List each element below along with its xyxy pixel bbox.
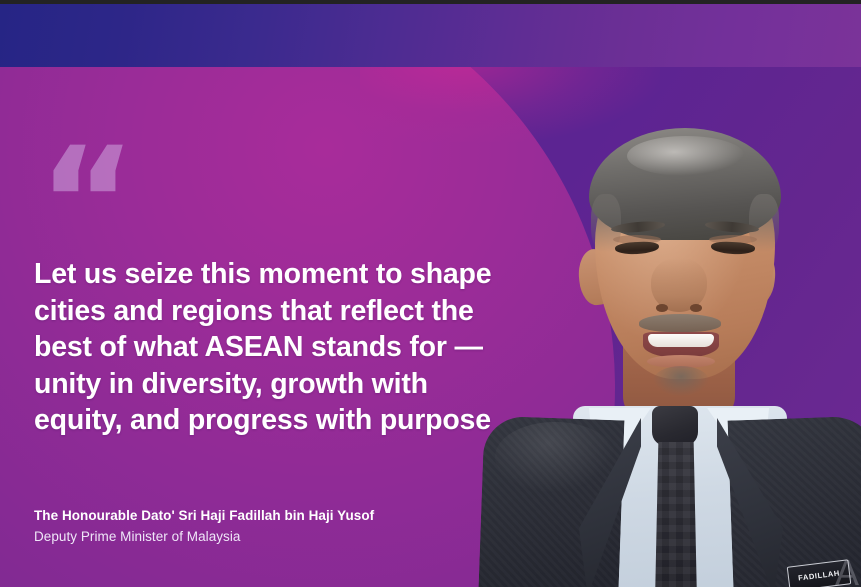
header-gradient-band bbox=[0, 4, 861, 67]
corner-watermark: A bbox=[835, 555, 859, 587]
portrait-goatee bbox=[653, 366, 709, 396]
quote-column: “ Let us seize this moment to shape citi… bbox=[0, 66, 500, 587]
portrait-moustache bbox=[639, 314, 721, 332]
speaker-portrait: FADILLAH A bbox=[455, 66, 861, 587]
portrait-nostril-right bbox=[690, 304, 702, 312]
attribution-block: The Honourable Dato' Sri Haji Fadillah b… bbox=[34, 506, 494, 546]
top-edge-strip bbox=[0, 0, 861, 4]
name-badge-label: FADILLAH bbox=[798, 568, 841, 582]
portrait-temple-left bbox=[591, 194, 621, 252]
portrait-shoulder-sheen bbox=[495, 422, 615, 492]
quote-text: Let us seize this moment to shape cities… bbox=[34, 256, 494, 439]
attribution-role: Deputy Prime Minister of Malaysia bbox=[34, 528, 494, 547]
portrait-tie-knot bbox=[652, 406, 698, 446]
portrait-nostril-left bbox=[656, 304, 668, 312]
portrait-tie bbox=[655, 442, 697, 587]
portrait-teeth bbox=[648, 334, 714, 347]
quote-slide: “ Let us seize this moment to shape citi… bbox=[0, 0, 861, 587]
portrait-temple-right bbox=[749, 194, 779, 252]
attribution-name: The Honourable Dato' Sri Haji Fadillah b… bbox=[34, 506, 494, 526]
portrait-hair-sheen bbox=[627, 136, 745, 176]
